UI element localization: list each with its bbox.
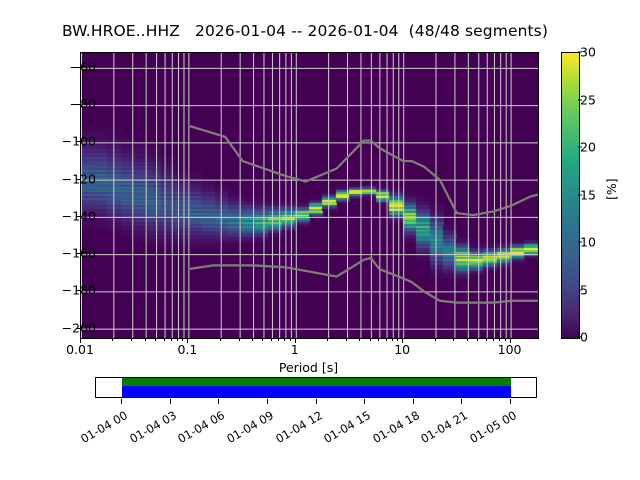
x-minor-tick-mark (252, 338, 253, 341)
x-minor-tick-mark (239, 338, 240, 341)
x-minor-tick-mark (505, 338, 506, 341)
y-tick-mark (76, 328, 80, 329)
y-tick-label: −60 (36, 59, 96, 74)
y-tick-label: −200 (36, 320, 96, 335)
y-tick-mark (76, 179, 80, 180)
x-minor-tick-mark (467, 338, 468, 341)
coverage-tick-mark (170, 399, 171, 404)
ppsd-figure: BW.HROE..HHZ 2026-01-04 -- 2026-01-04 (4… (0, 0, 640, 480)
colorbar-tick-label: 20 (580, 140, 596, 155)
colorbar-label: [%] (604, 178, 619, 200)
colorbar-tick-mark (578, 337, 582, 338)
coverage-tick-mark (121, 399, 122, 404)
coverage-tick-label: 01-04 12 (269, 408, 324, 448)
x-minor-tick-mark (164, 338, 165, 341)
x-minor-tick-mark (131, 338, 132, 341)
y-tick-label: −120 (36, 171, 96, 186)
x-tick-label: 0.1 (177, 342, 197, 357)
colorbar-tick-label: 10 (580, 235, 596, 250)
colorbar (561, 52, 580, 339)
x-minor-tick-mark (346, 338, 347, 341)
x-minor-tick-mark (378, 338, 379, 341)
y-tick-label: −80 (36, 97, 96, 112)
x-minor-tick-mark (278, 338, 279, 341)
y-tick-label: −160 (36, 246, 96, 261)
figure-title: BW.HROE..HHZ 2026-01-04 -- 2026-01-04 (4… (0, 22, 610, 40)
coverage-tick-label: 01-05 00 (464, 408, 519, 448)
coverage-tick-label: 01-04 09 (220, 408, 275, 448)
coverage-tick-label: 01-04 06 (172, 408, 227, 448)
x-tick-label: 10 (394, 342, 410, 357)
noise-model-lines (81, 53, 538, 338)
x-tick-label: 0.01 (66, 342, 94, 357)
x-minor-tick-mark (453, 338, 454, 341)
y-tick-mark (76, 216, 80, 217)
x-minor-tick-mark (359, 338, 360, 341)
x-minor-tick-mark (182, 338, 183, 341)
coverage-green-strip (122, 378, 511, 386)
y-tick-label: −100 (36, 134, 96, 149)
ppsd-axes (80, 52, 539, 339)
coverage-tick-mark (316, 399, 317, 404)
y-tick-mark (76, 253, 80, 254)
coverage-tick-mark (510, 399, 511, 404)
x-minor-tick-mark (284, 338, 285, 341)
x-minor-tick-mark (386, 338, 387, 341)
x-minor-tick-mark (392, 338, 393, 341)
y-tick-mark (76, 67, 80, 68)
coverage-tick-mark (267, 399, 268, 404)
x-minor-tick-mark (155, 338, 156, 341)
y-tick-label: −140 (36, 208, 96, 223)
colorbar-tick-label: 15 (580, 187, 596, 202)
y-tick-label: −180 (36, 283, 96, 298)
x-minor-tick-mark (290, 338, 291, 341)
x-minor-tick-mark (435, 338, 436, 341)
coverage-blue-strip (122, 386, 511, 397)
coverage-tick-mark (413, 399, 414, 404)
coverage-tick-mark (364, 399, 365, 404)
x-minor-tick-mark (327, 338, 328, 341)
x-minor-tick-mark (112, 338, 113, 341)
colorbar-tick-mark (578, 99, 582, 100)
data-coverage-bar (95, 377, 537, 398)
y-tick-mark (76, 104, 80, 105)
x-minor-tick-mark (486, 338, 487, 341)
x-minor-tick-mark (493, 338, 494, 341)
coverage-tick-label: 01-04 15 (318, 408, 373, 448)
coverage-tick-label: 01-04 03 (123, 408, 178, 448)
colorbar-tick-mark (578, 289, 582, 290)
colorbar-tick-mark (578, 194, 582, 195)
colorbar-tick-label: 25 (580, 92, 596, 107)
x-minor-tick-mark (262, 338, 263, 341)
x-minor-tick-mark (145, 338, 146, 341)
x-minor-tick-mark (477, 338, 478, 341)
colorbar-tick-mark (578, 147, 582, 148)
x-minor-tick-mark (499, 338, 500, 341)
x-minor-tick-mark (171, 338, 172, 341)
x-minor-tick-mark (271, 338, 272, 341)
coverage-tick-mark (461, 399, 462, 404)
y-tick-mark (76, 290, 80, 291)
y-tick-mark (76, 141, 80, 142)
x-minor-tick-mark (370, 338, 371, 341)
x-minor-tick-mark (177, 338, 178, 341)
x-axis-label: Period [s] (80, 360, 537, 375)
x-tick-label: 100 (498, 342, 522, 357)
x-minor-tick-mark (397, 338, 398, 341)
x-tick-label: 1 (291, 342, 299, 357)
coverage-tick-mark (218, 399, 219, 404)
x-minor-tick-mark (220, 338, 221, 341)
coverage-tick-label: 01-04 18 (366, 408, 421, 448)
coverage-tick-label: 01-04 00 (75, 408, 130, 448)
colorbar-tick-mark (578, 52, 582, 53)
colorbar-tick-label: 30 (580, 45, 596, 60)
coverage-tick-label: 01-04 21 (415, 408, 470, 448)
colorbar-tick-mark (578, 242, 582, 243)
ppsd-heatmap-canvas (81, 53, 538, 338)
